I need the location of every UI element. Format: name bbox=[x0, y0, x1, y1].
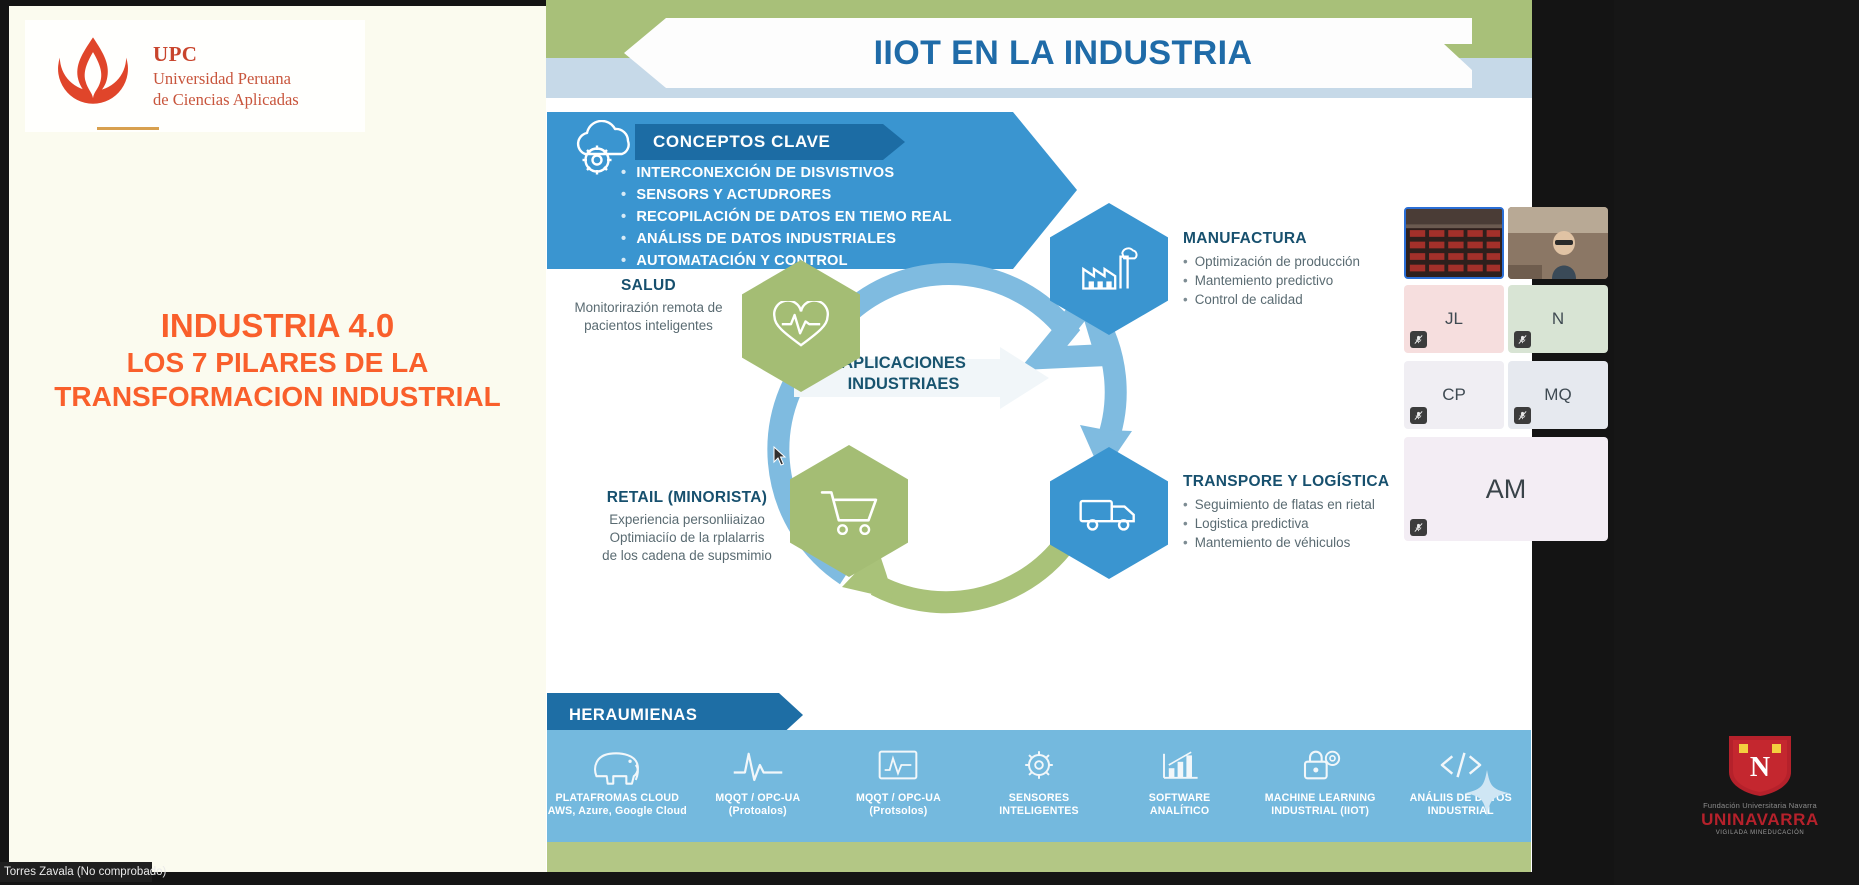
shopping-cart-icon bbox=[816, 485, 882, 537]
upc-line2: de Ciencias Aplicadas bbox=[153, 89, 299, 110]
title-line-1: INDUSTRIA 4.0 bbox=[9, 306, 546, 346]
title-line-3: TRANSFORMACION INDUSTRIAL bbox=[9, 380, 546, 414]
avatar: AM bbox=[1404, 437, 1608, 541]
uninavarra-name: UNINAVARRA bbox=[1701, 810, 1819, 830]
pillar-subtitle: Monitorirazión remota de pacientos intel… bbox=[556, 299, 741, 335]
list-item: ANÁLISS DE DATOS INDUSTRIALES bbox=[621, 228, 952, 250]
presenter-name-badge: Torres Zavala (No comprobado) bbox=[0, 862, 152, 882]
pillar-title: RETAIL (MINORISTA) bbox=[582, 489, 792, 507]
waveform-icon bbox=[688, 738, 829, 792]
truck-icon bbox=[1077, 490, 1141, 536]
tool-label-1: MQQT / OPC-UA bbox=[688, 792, 829, 805]
tool-label-2: INDUSTRIAL bbox=[1390, 805, 1531, 818]
pillar-salud-hex bbox=[742, 260, 860, 392]
factory-icon bbox=[1078, 242, 1140, 296]
tool-item: ANÁLIIS DE DATOS INDUSTRIAL bbox=[1390, 738, 1531, 818]
upc-acronym: UPC bbox=[153, 41, 299, 68]
participant-tile-video-1[interactable] bbox=[1404, 207, 1504, 279]
page-title: INDUSTRIA 4.0 LOS 7 PILARES DE LA TRANSF… bbox=[9, 306, 546, 415]
pillar-transporte-hex bbox=[1050, 447, 1168, 579]
person-camera-feed bbox=[1508, 207, 1608, 279]
pillar-manufactura-hex bbox=[1050, 203, 1168, 335]
meeting-screen-share-view: UPC Universidad Peruana de Ciencias Apli… bbox=[0, 0, 1859, 885]
list-item: Mantemiento predictivo bbox=[1183, 271, 1413, 290]
tool-label-2: INDUSTRIAL (IIOT) bbox=[1250, 805, 1391, 818]
sparkle-icon bbox=[1466, 770, 1508, 816]
shared-slide-content: IIOT EN LA INDUSTRIA CONCEPTOS bbox=[546, 0, 1532, 872]
heart-pulse-icon bbox=[769, 301, 833, 351]
participant-tile-cp[interactable]: CP bbox=[1404, 361, 1504, 429]
uninavarra-shield-icon: N bbox=[1723, 732, 1797, 798]
list-item: RECOPILACIÓN DE DATOS EN TIEMO REAL bbox=[621, 206, 952, 228]
tool-item: SENSORES INTELIGENTES bbox=[969, 738, 1110, 818]
participant-tile-mq[interactable]: MQ bbox=[1508, 361, 1608, 429]
logo-underline bbox=[97, 127, 159, 130]
list-item: Mantemiento de véhiculos bbox=[1183, 533, 1423, 552]
pillar-salud-text: SALUD Monitorirazión remota de pacientos… bbox=[556, 277, 741, 335]
pillar-title: SALUD bbox=[556, 277, 741, 295]
participant-tile-am[interactable]: AM bbox=[1404, 437, 1608, 541]
upc-flame-logo-icon bbox=[47, 30, 139, 122]
conceptos-clave-tag: CONCEPTOS CLAVE bbox=[635, 124, 905, 160]
title-line-2: LOS 7 PILARES DE LA bbox=[9, 346, 546, 380]
tool-label-1: ANÁLIIS DE DATOS bbox=[1390, 792, 1531, 805]
tool-label-1: SOFTWARE bbox=[1109, 792, 1250, 805]
pillar-transporte-text: TRANSPORE Y LOGÍSTICA Seguimiento de fla… bbox=[1183, 473, 1423, 552]
list-item: Seguimiento de flatas en rietal bbox=[1183, 495, 1423, 514]
upc-line1: Universidad Peruana bbox=[153, 68, 299, 89]
participant-tile-jl[interactable]: JL bbox=[1404, 285, 1504, 353]
tool-item: PLATAFROMAS CLOUD AWS, Azure, Google Clo… bbox=[547, 738, 688, 818]
tool-label-2: (Protoalos) bbox=[688, 805, 829, 818]
elephant-hadoop-icon bbox=[547, 738, 688, 792]
list-item: Control de calidad bbox=[1183, 290, 1413, 309]
tool-label-1: MACHINE LEARNING bbox=[1250, 792, 1391, 805]
monitor-chart-icon bbox=[828, 738, 969, 792]
microphone-muted-icon bbox=[1410, 519, 1427, 536]
tool-item: MACHINE LEARNING INDUSTRIAL (IIOT) bbox=[1250, 738, 1391, 818]
mouse-cursor-icon bbox=[773, 446, 787, 466]
herramientas-label: HERAUMIENAS bbox=[547, 706, 697, 725]
pillar-manufactura-text: MANUFACTURA Optimización de producción M… bbox=[1183, 230, 1413, 309]
microphone-muted-icon bbox=[1514, 407, 1531, 424]
upc-logo-text: UPC Universidad Peruana de Ciencias Apli… bbox=[153, 41, 299, 110]
pillar-title: MANUFACTURA bbox=[1183, 230, 1413, 248]
code-tag-icon bbox=[1390, 738, 1531, 792]
uninavarra-logo-block: N Fundación Universitaria Navarra UNINAV… bbox=[1680, 726, 1840, 836]
list-item: Logistica predictiva bbox=[1183, 514, 1423, 533]
auditorium-camera-feed bbox=[1406, 209, 1502, 278]
pillar-retail-hex bbox=[790, 445, 908, 577]
tool-label-1: PLATAFROMAS CLOUD bbox=[547, 792, 688, 805]
tool-label-2: ANALÍTICO bbox=[1109, 805, 1250, 818]
pillar-retail-text: RETAIL (MINORISTA) Experiencia personlii… bbox=[582, 489, 792, 565]
tool-label-2: AWS, Azure, Google Cloud bbox=[547, 805, 688, 818]
tool-item: MQQT / OPC-UA (Protoalos) bbox=[688, 738, 829, 818]
participant-tile-video-2[interactable] bbox=[1508, 207, 1608, 279]
pillar-title: TRANSPORE Y LOGÍSTICA bbox=[1183, 473, 1423, 491]
uninavarra-subtitle: Fundación Universitaria Navarra bbox=[1703, 801, 1817, 810]
conceptos-clave-panel: CONCEPTOS CLAVE INTERCONEXCIÓN DE DISVIS… bbox=[547, 112, 1077, 269]
pillar-subtitle: Experiencia personliiaizao Optimiaciío d… bbox=[582, 511, 792, 565]
header-white-strip bbox=[546, 98, 1532, 112]
pillar-bullets: Optimización de producción Mantemiento p… bbox=[1183, 252, 1413, 309]
list-item: SENSORS Y ACTUDRORES bbox=[621, 184, 952, 206]
slide-header-title: IIOT EN LA INDUSTRIA bbox=[844, 34, 1253, 73]
gear-icon bbox=[969, 738, 1110, 792]
svg-text:N: N bbox=[1750, 752, 1770, 783]
conceptos-clave-label: CONCEPTOS CLAVE bbox=[635, 132, 830, 152]
microphone-muted-icon bbox=[1410, 407, 1427, 424]
tool-item: MQQT / OPC-UA (Protsolos) bbox=[828, 738, 969, 818]
tool-label-2: (Protsolos) bbox=[828, 805, 969, 818]
microphone-muted-icon bbox=[1410, 331, 1427, 348]
slide-header-ribbon: IIOT EN LA INDUSTRIA bbox=[624, 18, 1472, 88]
bar-chart-icon bbox=[1109, 738, 1250, 792]
lock-gear-icon bbox=[1250, 738, 1391, 792]
microphone-muted-icon bbox=[1514, 331, 1531, 348]
tool-label-1: MQQT / OPC-UA bbox=[828, 792, 969, 805]
footer-green-band bbox=[547, 842, 1531, 872]
aplicaciones-industriales-cycle: APLICACIONES INDUSTRIAES MANUF bbox=[546, 255, 1532, 680]
tool-item: SOFTWARE ANALÍTICO bbox=[1109, 738, 1250, 818]
list-item: Optimización de producción bbox=[1183, 252, 1413, 271]
tool-label-2: INTELIGENTES bbox=[969, 805, 1110, 818]
slide-left-margin-panel: UPC Universidad Peruana de Ciencias Apli… bbox=[9, 6, 546, 872]
tool-label-1: SENSORES bbox=[969, 792, 1110, 805]
pillar-bullets: Seguimiento de flatas en rietal Logistic… bbox=[1183, 495, 1423, 552]
participant-tile-n[interactable]: N bbox=[1508, 285, 1608, 353]
uninavarra-tagline: VIGILADA MINEDUCACIÓN bbox=[1716, 830, 1805, 836]
upc-logo-block: UPC Universidad Peruana de Ciencias Apli… bbox=[25, 20, 365, 132]
herramientas-bar: PLATAFROMAS CLOUD AWS, Azure, Google Clo… bbox=[547, 730, 1531, 842]
list-item: INTERCONEXCIÓN DE DISVISTIVOS bbox=[621, 162, 952, 184]
